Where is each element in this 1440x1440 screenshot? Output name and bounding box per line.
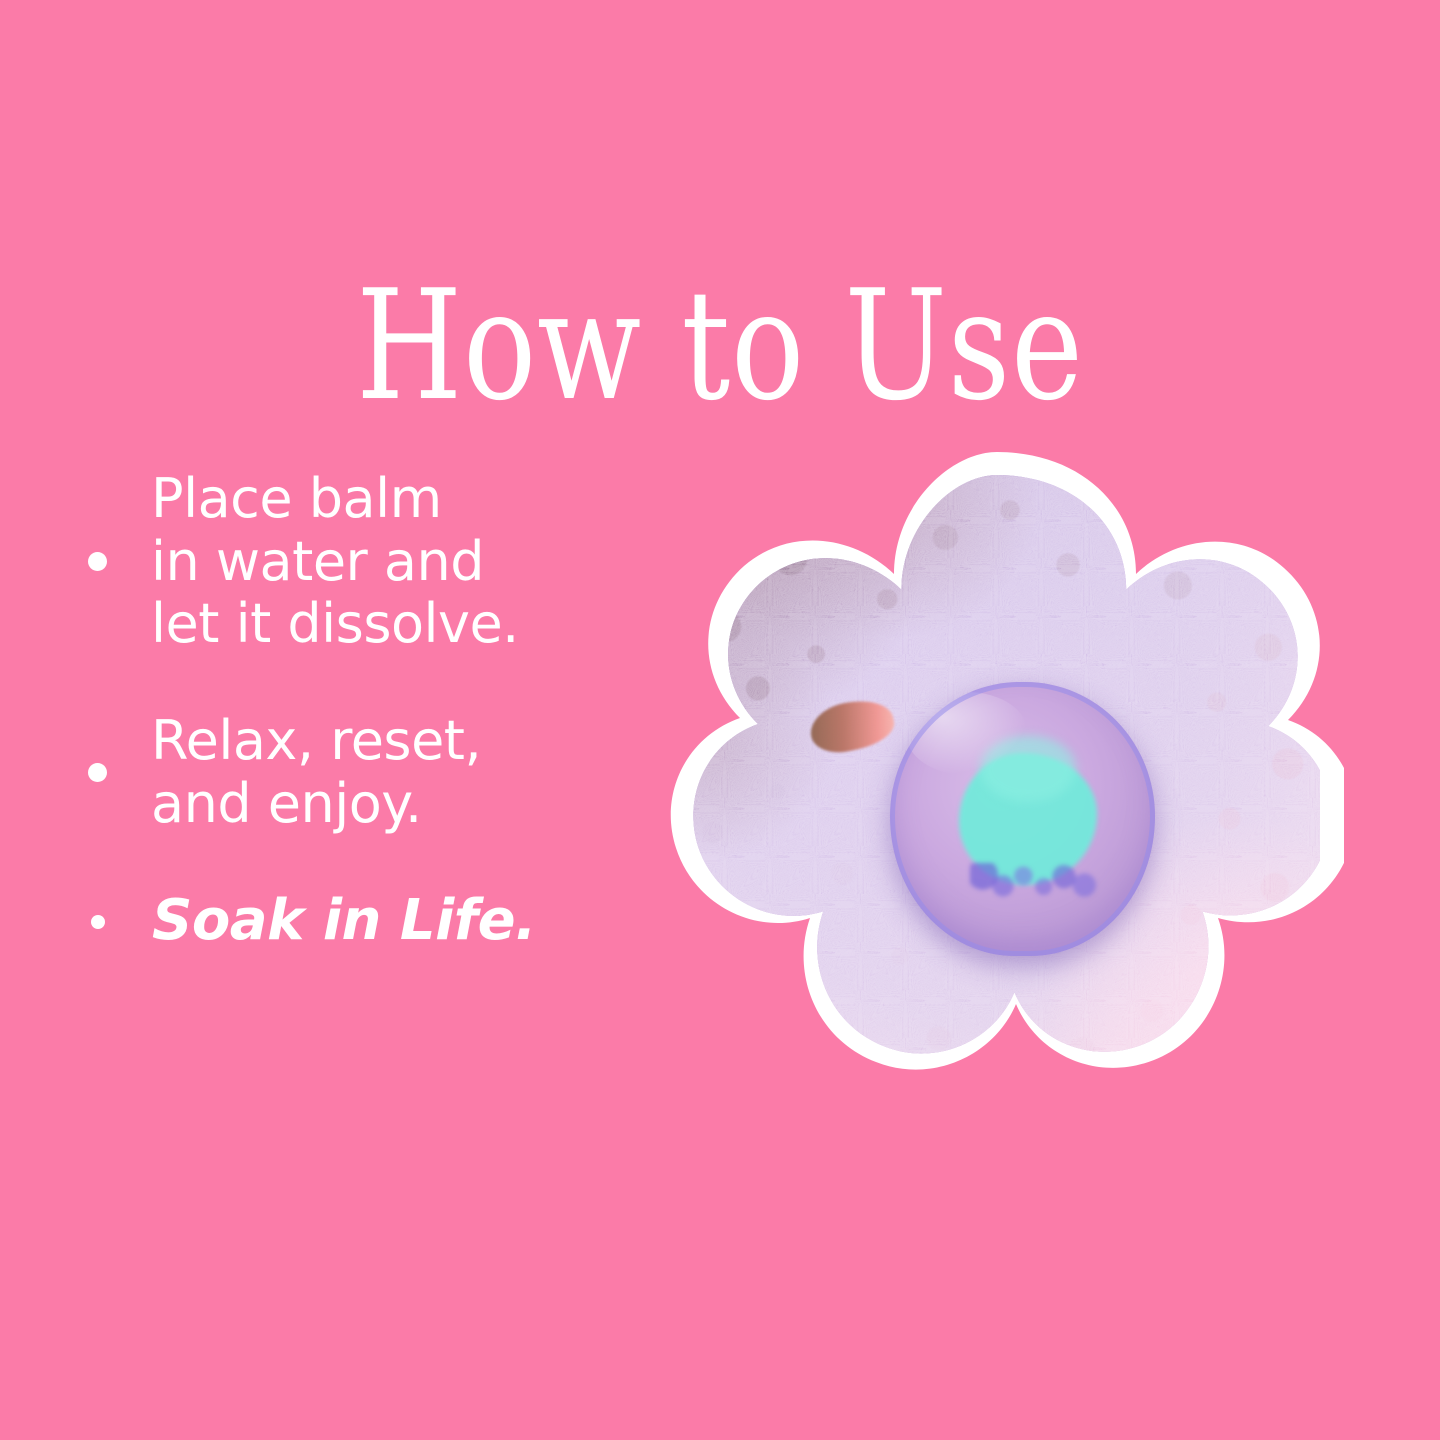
bullet-dot-icon bbox=[88, 552, 107, 571]
bath-bomb-fizz bbox=[970, 863, 1097, 901]
step-text-emphasis: Soak in Life. bbox=[152, 889, 536, 954]
poster-canvas: How to Use Place balm in water and let i… bbox=[0, 0, 1440, 1440]
flower-photo-sticker bbox=[652, 440, 1342, 1170]
bullet-dot-icon bbox=[91, 915, 105, 929]
list-item: Place balm in water and let it dissolve. bbox=[88, 468, 648, 656]
step-text: Place balm in water and let it dissolve. bbox=[151, 468, 519, 656]
bath-bomb-body bbox=[890, 682, 1155, 956]
flower-photo-area bbox=[674, 462, 1320, 1148]
list-item: Soak in Life. bbox=[88, 889, 648, 954]
bath-bomb bbox=[890, 682, 1155, 956]
step-text: Relax, reset, and enjoy. bbox=[151, 710, 481, 835]
list-item: Relax, reset, and enjoy. bbox=[88, 710, 648, 835]
page-title: How to Use bbox=[144, 270, 1296, 422]
bath-bomb-gloss bbox=[906, 692, 1028, 774]
how-to-use-step-list: Place balm in water and let it dissolve.… bbox=[88, 468, 648, 954]
bullet-dot-icon bbox=[88, 763, 107, 782]
